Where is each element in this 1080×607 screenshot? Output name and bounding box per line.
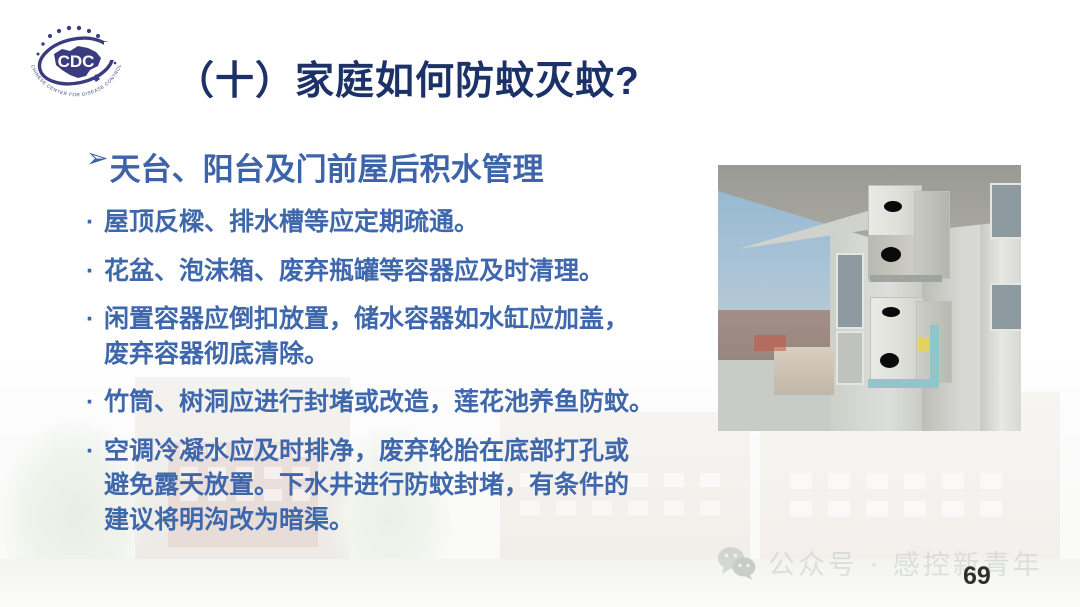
- dot-bullet-icon: ·: [86, 302, 104, 337]
- list-item: · 竹筒、树洞应进行封堵或改造，莲花池养鱼防蚊。: [86, 385, 726, 420]
- subheading-label: 天台、阳台及门前屋后积水管理: [110, 144, 544, 189]
- list-item-text: 花盆、泡沫箱、废弃瓶罐等容器应及时清理。: [104, 254, 726, 289]
- slide: CHINESE CENTER FOR DISEASE CONTROL AND P…: [0, 0, 1080, 607]
- list-item: · 屋顶反樑、排水槽等应定期疏通。: [86, 205, 726, 240]
- list-item: · 闲置容器应倒扣放置，储水容器如水缸应加盖， 废弃容器彻底清除。: [86, 302, 726, 371]
- page-title: （十）家庭如何防蚊灭蚊?: [175, 50, 640, 106]
- list-item-text: 空调冷凝水应及时排净，废弃轮胎在底部打孔或 避免露天放置。下水井进行防蚊封堵，有…: [104, 434, 726, 538]
- dot-bullet-icon: ·: [86, 254, 104, 289]
- content-block: ➢ 天台、阳台及门前屋后积水管理 · 屋顶反樑、排水槽等应定期疏通。 · 花盆、…: [86, 144, 726, 551]
- list-item: · 空调冷凝水应及时排净，废弃轮胎在底部打孔或 避免露天放置。下水井进行防蚊封堵…: [86, 434, 726, 538]
- arrow-bullet-icon: ➢: [86, 144, 109, 174]
- dot-bullet-icon: ·: [86, 385, 104, 420]
- subheading: ➢ 天台、阳台及门前屋后积水管理: [86, 144, 726, 189]
- dot-bullet-icon: ·: [86, 205, 104, 240]
- footer-text: 公众号 · 感控新青年: [768, 543, 1043, 582]
- svg-text:CDC: CDC: [58, 52, 95, 71]
- list-item-text: 闲置容器应倒扣放置，储水容器如水缸应加盖， 废弃容器彻底清除。: [104, 302, 726, 371]
- china-cdc-logo: CHINESE CENTER FOR DISEASE CONTROL AND P…: [16, 10, 136, 115]
- balcony-air-conditioner-photo: [718, 165, 1021, 431]
- list-item-text: 竹筒、树洞应进行封堵或改造，莲花池养鱼防蚊。: [104, 385, 726, 420]
- wechat-icon: [716, 546, 758, 580]
- dot-bullet-icon: ·: [86, 434, 104, 469]
- list-item: · 花盆、泡沫箱、废弃瓶罐等容器应及时清理。: [86, 254, 726, 289]
- list-item-text: 屋顶反樑、排水槽等应定期疏通。: [104, 205, 726, 240]
- bullet-list: · 屋顶反樑、排水槽等应定期疏通。 · 花盆、泡沫箱、废弃瓶罐等容器应及时清理。…: [86, 205, 726, 537]
- footer-watermark: 公众号 · 感控新青年: [716, 543, 1043, 582]
- page-number: 69: [963, 562, 991, 591]
